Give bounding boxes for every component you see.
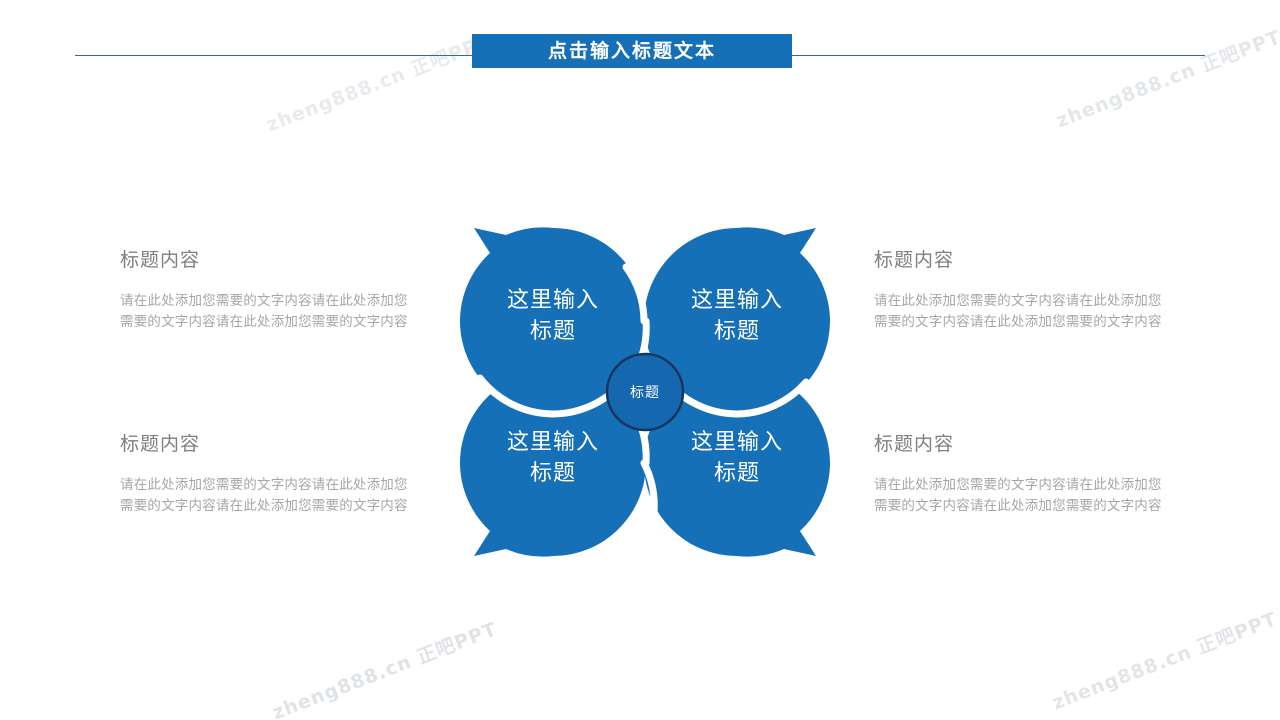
text-block-heading: 标题内容 [120, 250, 410, 273]
text-block-body: 请在此处添加您需要的文字内容请在此处添加您需要的文字内容请在此处添加您需要的文字… [874, 291, 1164, 333]
petal-top-right-label-line2: 标题 [714, 318, 760, 343]
watermark: zheng888.cn 正吧PPT [268, 614, 501, 720]
text-block-body: 请在此处添加您需要的文字内容请在此处添加您需要的文字内容请在此处添加您需要的文字… [120, 291, 410, 333]
text-block-body: 请在此处添加您需要的文字内容请在此处添加您需要的文字内容请在此处添加您需要的文字… [874, 475, 1164, 517]
watermark: zheng888.cn 正吧PPT [1052, 22, 1280, 133]
hub-node[interactable]: 标题 [607, 354, 683, 430]
petal-bottom-right-label-line2: 标题 [714, 460, 760, 485]
text-block-bottom-left: 标题内容 请在此处添加您需要的文字内容请在此处添加您需要的文字内容请在此处添加您… [120, 434, 410, 517]
text-block-bottom-right: 标题内容 请在此处添加您需要的文字内容请在此处添加您需要的文字内容请在此处添加您… [874, 434, 1164, 517]
petal-top-left-label-line1: 这里输入 [507, 287, 599, 312]
text-block-top-right: 标题内容 请在此处添加您需要的文字内容请在此处添加您需要的文字内容请在此处添加您… [874, 250, 1164, 333]
petal-bottom-right-label-line1: 这里输入 [691, 429, 783, 454]
text-block-heading: 标题内容 [874, 250, 1164, 273]
slide-canvas: zheng888.cn 正吧PPT zheng888.cn 正吧PPT zhen… [0, 0, 1280, 720]
hub-label: 标题 [630, 384, 660, 400]
petal-bottom-left-label-line2: 标题 [530, 460, 576, 485]
petal-top-left-label-line2: 标题 [530, 318, 576, 343]
text-block-heading: 标题内容 [120, 434, 410, 457]
page-title: 点击输入标题文本 [548, 42, 716, 61]
watermark: zheng888.cn 正吧PPT [262, 26, 495, 137]
petal-top-right-label-line1: 这里输入 [691, 287, 783, 312]
text-block-body: 请在此处添加您需要的文字内容请在此处添加您需要的文字内容请在此处添加您需要的文字… [120, 475, 410, 517]
text-block-top-left: 标题内容 请在此处添加您需要的文字内容请在此处添加您需要的文字内容请在此处添加您… [120, 250, 410, 333]
text-block-heading: 标题内容 [874, 434, 1164, 457]
slide-title-bar[interactable]: 点击输入标题文本 [472, 34, 792, 68]
petal-bottom-left-label-line1: 这里输入 [507, 429, 599, 454]
watermark: zheng888.cn 正吧PPT [1048, 604, 1280, 715]
four-petal-diagram: 这里输入 标题 这里输入 标题 这里输入 标题 这里输入 标题 [440, 212, 850, 572]
